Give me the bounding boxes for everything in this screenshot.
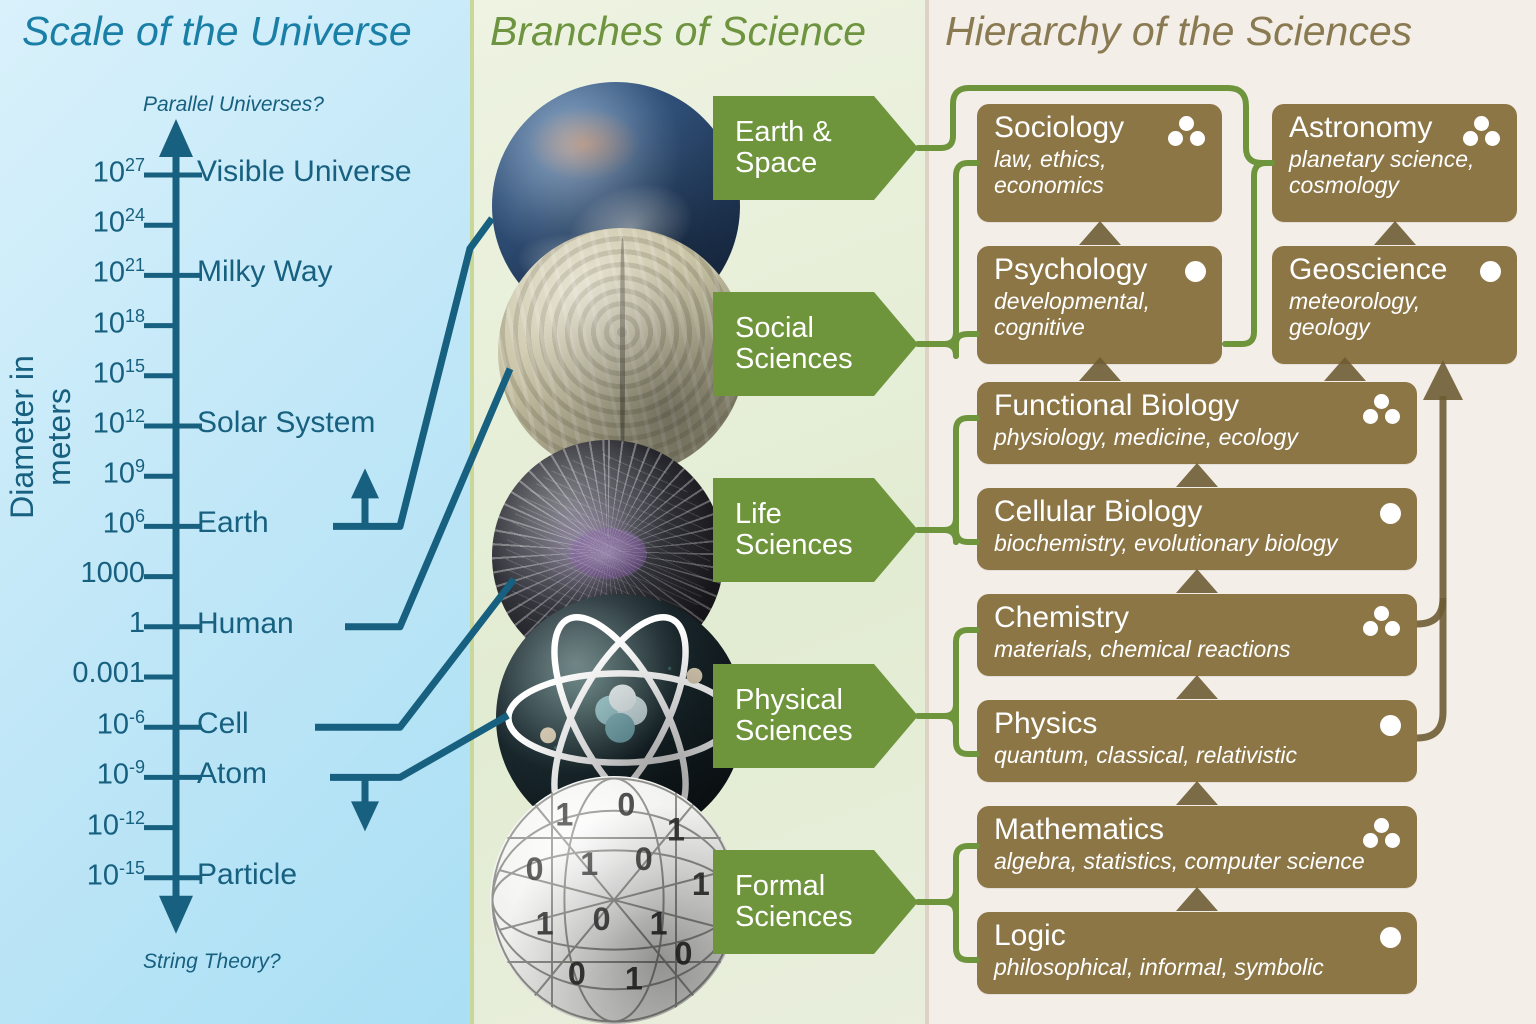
three-dots-icon	[1363, 606, 1403, 638]
hierarchy-box-subtitle: materials, chemical reactions	[994, 636, 1401, 662]
axis-tick-value: 1024	[25, 205, 145, 240]
axis-tick-value: 1000	[25, 557, 145, 590]
one-dot-icon	[1463, 258, 1503, 290]
axis-tick-label: Visible Universe	[197, 155, 412, 189]
one-dot-icon	[1363, 712, 1403, 744]
hierarchy-box-name: Chemistry	[994, 601, 1401, 635]
axis-tick-value: 10-15	[25, 858, 145, 893]
hierarchy-box-subtitle: philosophical, informal, symbolic	[994, 954, 1401, 980]
hierarchy-box-subtitle: planetary science, cosmology	[1289, 146, 1501, 198]
axis-tick-label: Human	[197, 607, 294, 641]
hierarchy-box-physics[interactable]: Physicsquantum, classical, relativistic	[977, 700, 1417, 782]
hierarchy-box-subtitle: developmental, cognitive	[994, 288, 1206, 340]
axis-tick-value: 10-9	[25, 757, 145, 792]
one-dot-icon	[1168, 258, 1208, 290]
axis-tick-value: 106	[25, 506, 145, 541]
three-dots-icon	[1363, 394, 1403, 426]
axis-tick-value: 1027	[25, 155, 145, 190]
panel-scale-title: Scale of the Universe	[22, 8, 412, 55]
hierarchy-box-name: Functional Biology	[994, 389, 1401, 423]
panel-branches-title: Branches of Science	[490, 8, 866, 55]
axis-tick-value: 1012	[25, 406, 145, 441]
hierarchy-box-subtitle: quantum, classical, relativistic	[994, 742, 1401, 768]
axis-tick-value: 1021	[25, 255, 145, 290]
hierarchy-box-astronomy[interactable]: Astronomyplanetary science, cosmology	[1272, 104, 1517, 222]
axis-top-note: Parallel Universes?	[143, 93, 324, 117]
hierarchy-box-chemistry[interactable]: Chemistrymaterials, chemical reactions	[977, 594, 1417, 676]
brain-sphere-icon	[498, 228, 746, 476]
hierarchy-box-subtitle: biochemistry, evolutionary biology	[994, 530, 1401, 556]
branch-label-text: Life Sciences	[735, 499, 853, 562]
panel-hierarchy-title: Hierarchy of the Sciences	[945, 8, 1412, 55]
hierarchy-box-name: Logic	[994, 919, 1401, 953]
infographic-root: Scale of the Universe Diameter in meters…	[0, 0, 1536, 1024]
hierarchy-box-sociology[interactable]: Sociologylaw, ethics, economics	[977, 104, 1222, 222]
hierarchy-box-psychology[interactable]: Psychologydevelopmental, cognitive	[977, 246, 1222, 364]
binary-sphere-icon: 101 0101 101 010	[490, 776, 738, 1024]
hierarchy-box-subtitle: law, ethics, economics	[994, 146, 1206, 198]
axis-tick-label: Solar System	[197, 406, 375, 440]
axis-tick-value: 1	[25, 607, 145, 640]
hierarchy-box-subtitle: algebra, statistics, computer science	[994, 848, 1401, 874]
hierarchy-box-name: Cellular Biology	[994, 495, 1401, 529]
hierarchy-box-subtitle: meteorology, geology	[1289, 288, 1501, 340]
branch-label-text: Physical Sciences	[735, 685, 853, 748]
axis-tick-value: 1018	[25, 306, 145, 341]
axis-tick-value: 0.001	[25, 657, 145, 690]
hierarchy-box-logic[interactable]: Logicphilosophical, informal, symbolic	[977, 912, 1417, 994]
hierarchy-box-functional-biology[interactable]: Functional Biologyphysiology, medicine, …	[977, 382, 1417, 464]
axis-tick-value: 1015	[25, 356, 145, 391]
axis-tick-label: Cell	[197, 707, 249, 741]
one-dot-icon	[1363, 924, 1403, 956]
hierarchy-box-subtitle: physiology, medicine, ecology	[994, 424, 1401, 450]
panel-scale-of-universe: Scale of the Universe Diameter in meters…	[0, 0, 470, 1024]
axis-tick-value: 109	[25, 456, 145, 491]
three-dots-icon	[1363, 818, 1403, 850]
axis-bottom-note: String Theory?	[143, 950, 281, 974]
axis-tick-label: Milky Way	[197, 255, 333, 289]
axis-tick-label: Earth	[197, 506, 269, 540]
hierarchy-box-cellular-biology[interactable]: Cellular Biologybiochemistry, evolutiona…	[977, 488, 1417, 570]
branch-label-text: Formal Sciences	[735, 871, 853, 934]
branch-label-text: Earth & Space	[735, 117, 832, 180]
branch-label-text: Social Sciences	[735, 313, 853, 376]
axis-tick-label: Particle	[197, 858, 297, 892]
axis-tick-label: Atom	[197, 757, 267, 791]
three-dots-icon	[1463, 116, 1503, 148]
axis-tick-value: 10-12	[25, 808, 145, 843]
three-dots-icon	[1168, 116, 1208, 148]
hierarchy-box-mathematics[interactable]: Mathematicsalgebra, statistics, computer…	[977, 806, 1417, 888]
hierarchy-box-geoscience[interactable]: Geosciencemeteorology, geology	[1272, 246, 1517, 364]
axis-tick-value: 10-6	[25, 707, 145, 742]
hierarchy-box-name: Physics	[994, 707, 1401, 741]
one-dot-icon	[1363, 500, 1403, 532]
hierarchy-box-name: Mathematics	[994, 813, 1401, 847]
